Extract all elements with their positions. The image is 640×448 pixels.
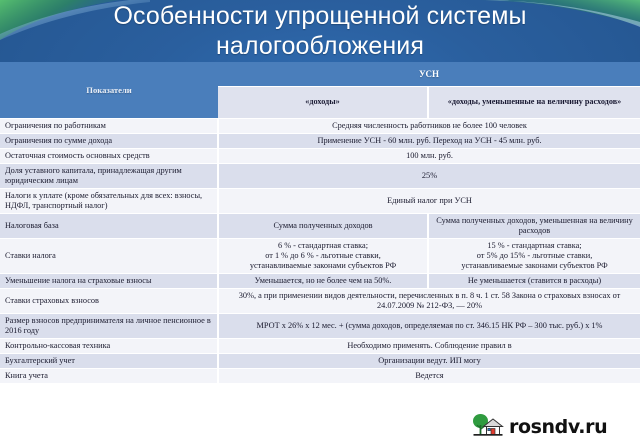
row-value-cell-income: 6 % - стандартная ставка; от 1 % до 6 % …	[218, 238, 428, 273]
table-row: Уменьшение налога на страховые взносыУме…	[0, 273, 640, 288]
row-value-cell-merged: 100 млн. руб.	[218, 148, 640, 163]
column-header-indicators: Показатели	[0, 62, 218, 118]
table-body: Ограничения по работникамСредняя численн…	[0, 118, 640, 383]
table-row: Ограничения по сумме доходаПрименение УС…	[0, 133, 640, 148]
row-indicator-cell: Остаточная стоимость основных средств	[0, 148, 218, 163]
title-banner: Особенности упрощенной системы налогообл…	[0, 0, 640, 62]
page-title: Особенности упрощенной системы налогообл…	[0, 1, 640, 61]
row-indicator-cell: Налоговая база	[0, 213, 218, 238]
row-value-cell-merged: Единый налог при УСН	[218, 188, 640, 213]
row-indicator-cell: Размер взносов предпринимателя на личное…	[0, 313, 218, 338]
row-indicator-cell: Контрольно-кассовая техника	[0, 338, 218, 353]
row-value-cell-merged: Применение УСН - 60 млн. руб. Переход на…	[218, 133, 640, 148]
row-indicator-cell: Бухгалтерский учет	[0, 353, 218, 368]
row-value-cell-merged: МРОТ х 26% х 12 мес. + (сумма доходов, о…	[218, 313, 640, 338]
row-indicator-cell: Ставки страховых взносов	[0, 288, 218, 313]
row-indicator-cell: Уменьшение налога на страховые взносы	[0, 273, 218, 288]
row-value-cell-income-minus-expenses: Сумма полученных доходов, уменьшенная на…	[428, 213, 640, 238]
row-indicator-cell: Ставки налога	[0, 238, 218, 273]
table-row: Ставки налога6 % - стандартная ставка; о…	[0, 238, 640, 273]
table-row: Остаточная стоимость основных средств100…	[0, 148, 640, 163]
row-value-cell-income-minus-expenses: Не уменьшается (ставится в расходы)	[428, 273, 640, 288]
row-indicator-cell: Ограничения по работникам	[0, 118, 218, 133]
row-value-cell-merged: Организации ведут. ИП могу	[218, 353, 640, 368]
row-indicator-cell: Налоги к уплате (кроме обязательных для …	[0, 188, 218, 213]
table-row: Контрольно-кассовая техникаНеобходимо пр…	[0, 338, 640, 353]
table-row: Размер взносов предпринимателя на личное…	[0, 313, 640, 338]
row-value-cell-income: Сумма полученных доходов	[218, 213, 428, 238]
row-value-cell-merged: Средняя численность работников не более …	[218, 118, 640, 133]
table-row: Бухгалтерский учетОрганизации ведут. ИП …	[0, 353, 640, 368]
row-value-cell-merged: 30%, а при применении видов деятельности…	[218, 288, 640, 313]
table-row: Книга учетаВедется	[0, 368, 640, 383]
comparison-table: Показатели УСН «доходы» «доходы, уменьше…	[0, 62, 640, 384]
row-value-cell-income: Уменьшается, но не более чем на 50%.	[218, 273, 428, 288]
column-header-income: «доходы»	[218, 86, 428, 118]
row-value-cell-merged: Необходимо применять. Соблюдение правил …	[218, 338, 640, 353]
row-value-cell-merged: Ведется	[218, 368, 640, 383]
row-indicator-cell: Доля уставного капитала, принадлежащая д…	[0, 163, 218, 188]
table-header: Показатели УСН «доходы» «доходы, уменьше…	[0, 62, 640, 118]
table-row: Налоговая базаСумма полученных доходовСу…	[0, 213, 640, 238]
column-header-usn: УСН	[218, 62, 640, 86]
header-row-group: Показатели УСН	[0, 62, 640, 86]
row-value-cell-income-minus-expenses: 15 % - стандартная ставка; от 5% до 15% …	[428, 238, 640, 273]
column-header-income-minus-expenses: «доходы, уменьшенные на величину расходо…	[428, 86, 640, 118]
row-indicator-cell: Ограничения по сумме дохода	[0, 133, 218, 148]
watermark-text: rosndv.ru	[509, 416, 607, 438]
table-row: Доля уставного капитала, принадлежащая д…	[0, 163, 640, 188]
row-value-cell-merged: 25%	[218, 163, 640, 188]
table-row: Ставки страховых взносов30%, а при приме…	[0, 288, 640, 313]
watermark: rosndv.ru	[465, 410, 640, 444]
house-with-tree-icon	[471, 413, 505, 441]
row-indicator-cell: Книга учета	[0, 368, 218, 383]
slide-root: Особенности упрощенной системы налогообл…	[0, 0, 640, 448]
table-row: Ограничения по работникамСредняя численн…	[0, 118, 640, 133]
table-row: Налоги к уплате (кроме обязательных для …	[0, 188, 640, 213]
